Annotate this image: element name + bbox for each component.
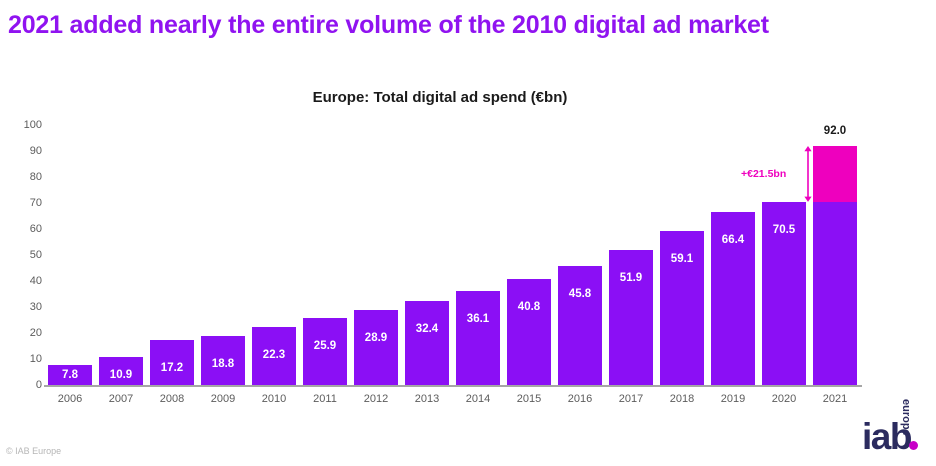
x-axis-tick-label: 2016 xyxy=(558,393,602,405)
bar-segment-highlight xyxy=(813,146,857,202)
x-axis-tick-label: 2020 xyxy=(762,393,806,405)
bar-value-label: 18.8 xyxy=(201,358,245,370)
bar-group[interactable]: 18.82009 xyxy=(201,0,245,466)
bar-group[interactable]: 10.92007 xyxy=(99,0,143,466)
copyright-text: © IAB Europe xyxy=(6,446,61,456)
logo-dot-icon xyxy=(909,441,918,450)
x-axis-tick-label: 2014 xyxy=(456,393,500,405)
bar-value-label: 51.9 xyxy=(609,272,653,284)
bar-group[interactable]: 22.32010 xyxy=(252,0,296,466)
bar-group[interactable]: 51.92017 xyxy=(609,0,653,466)
bar-value-label: 10.9 xyxy=(99,369,143,381)
bar-value-label: 92.0 xyxy=(813,125,857,137)
bar-group[interactable]: 25.92011 xyxy=(303,0,347,466)
growth-annotation-label: +€21.5bn xyxy=(741,168,786,180)
bar-value-label: 70.5 xyxy=(762,224,806,236)
bar[interactable] xyxy=(507,279,551,385)
y-axis-tick-label: 90 xyxy=(8,145,42,157)
y-axis-tick-label: 70 xyxy=(8,197,42,209)
y-axis-tick-label: 0 xyxy=(8,379,42,391)
bar[interactable] xyxy=(558,266,602,385)
logo-europe-label: europe xyxy=(900,399,912,436)
bar[interactable] xyxy=(456,291,500,385)
x-axis-tick-label: 2017 xyxy=(609,393,653,405)
bar-value-label: 22.3 xyxy=(252,349,296,361)
bar-chart: Europe: Total digital ad spend (€bn) 010… xyxy=(0,0,936,466)
x-axis-tick-label: 2019 xyxy=(711,393,755,405)
y-axis-tick-label: 10 xyxy=(8,353,42,365)
bar-value-label: 66.4 xyxy=(711,234,755,246)
bar-segment-base xyxy=(558,266,602,385)
bar-segment-base xyxy=(354,310,398,385)
bar-group[interactable]: 59.12018 xyxy=(660,0,704,466)
y-axis-tick-label: 30 xyxy=(8,301,42,313)
x-axis-tick-label: 2012 xyxy=(354,393,398,405)
y-axis-tick-label: 100 xyxy=(8,119,42,131)
bar-value-label: 25.9 xyxy=(303,340,347,352)
bar-value-label: 28.9 xyxy=(354,332,398,344)
bar-segment-base xyxy=(813,202,857,385)
x-axis-tick-label: 2009 xyxy=(201,393,245,405)
bar[interactable] xyxy=(405,301,449,385)
bar-group[interactable]: 70.52020 xyxy=(762,0,806,466)
y-axis-tick-label: 80 xyxy=(8,171,42,183)
growth-arrow-icon xyxy=(803,146,813,202)
bar-value-label: 36.1 xyxy=(456,313,500,325)
bar-segment-base xyxy=(507,279,551,385)
bar-segment-base xyxy=(405,301,449,385)
bar-group[interactable]: 36.12014 xyxy=(456,0,500,466)
bar-group[interactable]: 28.92012 xyxy=(354,0,398,466)
y-axis-tick-label: 20 xyxy=(8,327,42,339)
bar-value-label: 59.1 xyxy=(660,253,704,265)
x-axis-tick-label: 2008 xyxy=(150,393,194,405)
bar-segment-base xyxy=(609,250,653,385)
bar-value-label: 45.8 xyxy=(558,288,602,300)
y-axis-tick-label: 50 xyxy=(8,249,42,261)
bar-group[interactable]: 66.42019 xyxy=(711,0,755,466)
bar-group[interactable]: 45.82016 xyxy=(558,0,602,466)
iab-europe-logo: iab europe xyxy=(862,398,936,462)
bar-value-label: 17.2 xyxy=(150,362,194,374)
bar[interactable] xyxy=(813,146,857,385)
bar[interactable] xyxy=(609,250,653,385)
bar-group[interactable]: 92.02021 xyxy=(813,0,857,466)
x-axis-tick-label: 2010 xyxy=(252,393,296,405)
x-axis-tick-label: 2018 xyxy=(660,393,704,405)
bar-group[interactable]: 40.82015 xyxy=(507,0,551,466)
bar-value-label: 7.8 xyxy=(48,369,92,381)
bar-value-label: 40.8 xyxy=(507,301,551,313)
x-axis-tick-label: 2021 xyxy=(813,393,857,405)
y-axis-tick-label: 60 xyxy=(8,223,42,235)
bar[interactable] xyxy=(354,310,398,385)
x-axis-tick-label: 2006 xyxy=(48,393,92,405)
x-axis-tick-label: 2007 xyxy=(99,393,143,405)
x-axis-tick-label: 2015 xyxy=(507,393,551,405)
bar-group[interactable]: 17.22008 xyxy=(150,0,194,466)
x-axis-tick-label: 2011 xyxy=(303,393,347,405)
bar-value-label: 32.4 xyxy=(405,323,449,335)
bar-group[interactable]: 7.82006 xyxy=(48,0,92,466)
x-axis-tick-label: 2013 xyxy=(405,393,449,405)
bar-segment-base xyxy=(456,291,500,385)
bar-group[interactable]: 32.42013 xyxy=(405,0,449,466)
y-axis-tick-label: 40 xyxy=(8,275,42,287)
